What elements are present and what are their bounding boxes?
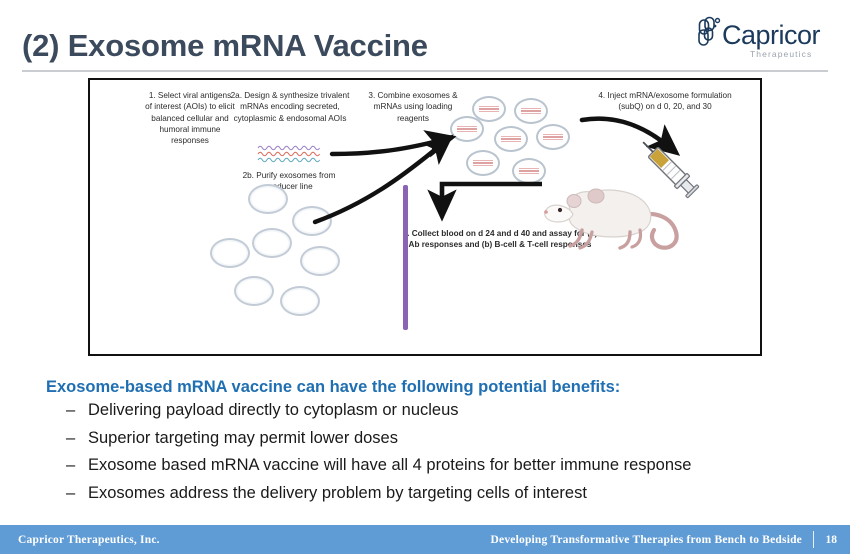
exosome-icon bbox=[252, 228, 292, 258]
bullet-marker: – bbox=[66, 430, 78, 447]
loaded-exosome-icon bbox=[514, 98, 548, 124]
purified-exosomes-group bbox=[210, 184, 380, 324]
mrna-strands-icon bbox=[256, 144, 328, 166]
footer-company: Capricor Therapeutics, Inc. bbox=[18, 534, 160, 546]
vaccine-workflow-diagram: 1. Select viral antigens of interest (AO… bbox=[88, 78, 762, 356]
bullet-marker: – bbox=[66, 485, 78, 502]
diagram-step-2a-label: 2a. Design & synthesize trivalent mRNAs … bbox=[230, 90, 350, 124]
list-item-text: Exosomes address the delivery problem by… bbox=[88, 485, 587, 502]
logo-tagline: Therapeutics bbox=[750, 49, 812, 59]
footer-separator bbox=[813, 531, 814, 548]
benefits-list: – Delivering payload directly to cytopla… bbox=[66, 402, 836, 512]
list-item: – Exosomes address the delivery problem … bbox=[66, 485, 836, 502]
page-title: (2) Exosome mRNA Vaccine bbox=[22, 28, 428, 64]
capricor-logo: Capricor Therapeutics bbox=[696, 12, 836, 64]
loaded-exosome-icon bbox=[466, 150, 500, 176]
page-number: 18 bbox=[826, 534, 838, 546]
footer-tagline: Developing Transformative Therapies from… bbox=[491, 534, 802, 546]
benefits-heading: Exosome-based mRNA vaccine can have the … bbox=[46, 378, 620, 397]
exosome-icon bbox=[300, 246, 340, 276]
title-divider bbox=[22, 70, 828, 72]
arrow-mrna-to-combine bbox=[332, 140, 442, 154]
list-item: – Superior targeting may permit lower do… bbox=[66, 430, 836, 447]
bullet-marker: – bbox=[66, 457, 78, 474]
logo-wordmark: Capricor bbox=[722, 20, 820, 51]
diagram-step-4-label: 4. Inject mRNA/exosome formulation (subQ… bbox=[590, 90, 740, 113]
list-item: – Exosome based mRNA vaccine will have a… bbox=[66, 457, 836, 474]
list-item-text: Superior targeting may permit lower dose… bbox=[88, 430, 398, 447]
list-item-text: Delivering payload directly to cytoplasm… bbox=[88, 402, 459, 419]
slide: (2) Exosome mRNA Vaccine Capricor Therap… bbox=[0, 0, 850, 554]
exosome-icon bbox=[234, 276, 274, 306]
loaded-exosome-icon bbox=[494, 126, 528, 152]
diagram-step-3-label: 3. Combine exosomes & mRNAs using loadin… bbox=[365, 90, 461, 124]
list-item-text: Exosome based mRNA vaccine will have all… bbox=[88, 457, 691, 474]
exosome-icon bbox=[210, 238, 250, 268]
section-divider-bar bbox=[403, 185, 408, 330]
slide-footer: Capricor Therapeutics, Inc. Developing T… bbox=[0, 525, 850, 554]
diagram-step-1-label: 1. Select viral antigens of interest (AO… bbox=[145, 90, 235, 147]
loaded-exosome-icon bbox=[450, 116, 484, 142]
list-item: – Delivering payload directly to cytopla… bbox=[66, 402, 836, 419]
exosome-icon bbox=[280, 286, 320, 316]
loaded-exosome-icon bbox=[536, 124, 570, 150]
mouse-illustration bbox=[530, 170, 690, 255]
exosome-icon bbox=[292, 206, 332, 236]
bullet-marker: – bbox=[66, 402, 78, 419]
exosome-icon bbox=[248, 184, 288, 214]
